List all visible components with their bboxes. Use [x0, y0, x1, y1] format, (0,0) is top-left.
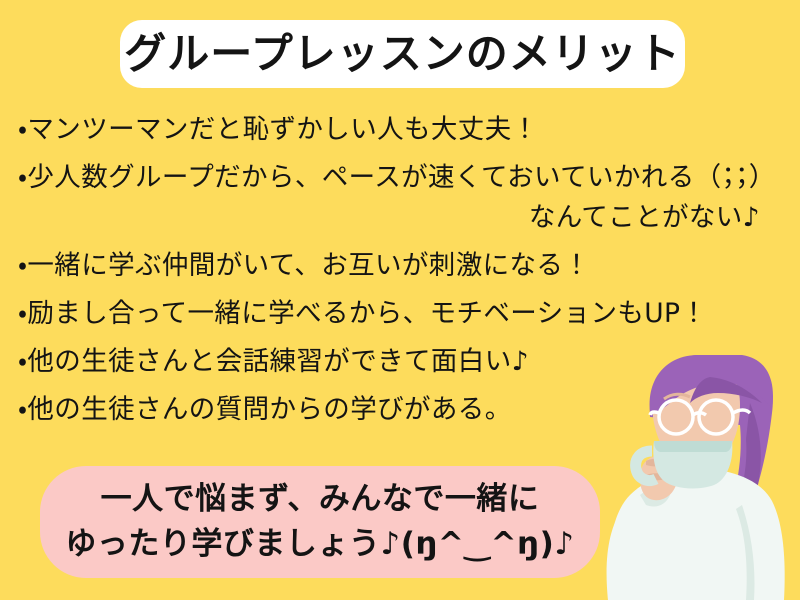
list-item: ・励まし合って一緒に学べるから、モチベーションもUP！ [18, 292, 782, 336]
slide-canvas: グループレッスンのメリット ・マンツーマンだと恥ずかしい人も大丈夫！ ・少人数グ… [0, 0, 800, 600]
callout-box: 一人で悩まず、みんなで一緒に ゆったり学びましょう♪(ŋ^‿^ŋ)♪ [40, 466, 600, 578]
list-item: ・少人数グループだから、ペースが速くておいていかれる（；；） [18, 156, 782, 200]
list-item: ・マンツーマンだと恥ずかしい人も大丈夫！ [18, 108, 782, 152]
page-title: グループレッスンのメリット [124, 33, 680, 75]
list-item: ・一緒に学ぶ仲間がいて、お互いが刺激になる！ [18, 244, 782, 288]
callout-line-2: ゆったり学びましょう♪(ŋ^‿^ŋ)♪ [65, 522, 574, 567]
woman-drinking-from-mug-illustration [590, 355, 800, 600]
title-pill: グループレッスンのメリット [120, 20, 685, 88]
mug-rim [654, 441, 732, 452]
callout-line-1: 一人で悩まず、みんなで一緒に [101, 477, 540, 522]
list-item-continuation: なんてことがない♪ [18, 196, 782, 240]
